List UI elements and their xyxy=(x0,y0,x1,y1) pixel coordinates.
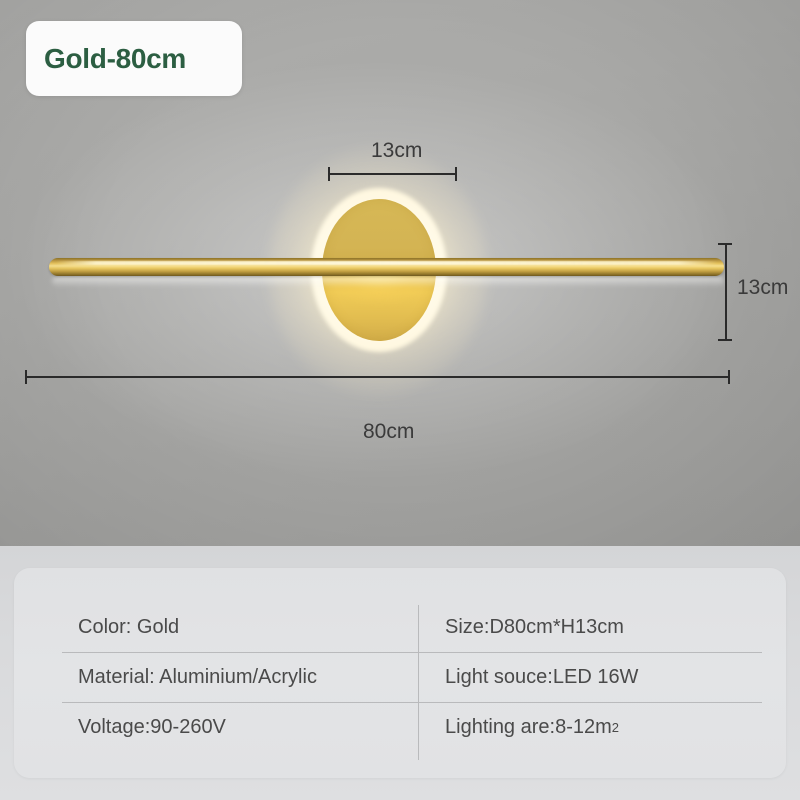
spec-lighting-area-superscript: 2 xyxy=(612,720,619,735)
spec-lighting-area-unit: m xyxy=(595,716,612,739)
dimension-line-disc xyxy=(328,173,457,175)
spec-voltage: Voltage:90-260V xyxy=(62,716,422,739)
product-detail-image: 13cm 80cm 13cm Gold-80cm Color: Gold Siz… xyxy=(0,0,800,800)
dimension-tick-width-left xyxy=(25,370,27,384)
dimension-tick-height-bottom xyxy=(718,339,732,341)
dimension-tick-disc-left xyxy=(328,167,330,181)
dimension-tick-width-right xyxy=(728,370,730,384)
spec-material: Material: Aluminium/Acrylic xyxy=(62,666,422,689)
dimension-tick-disc-right xyxy=(455,167,457,181)
dimension-label-disc: 13cm xyxy=(371,139,422,163)
specs-table: Color: Gold Size:D80cm*H13cm Material: A… xyxy=(62,603,762,760)
variant-badge-label: Gold-80cm xyxy=(44,43,186,75)
spec-lighting-area-text: Lighting are:8-12 xyxy=(445,716,595,739)
table-row: Color: Gold Size:D80cm*H13cm xyxy=(62,603,762,652)
specs-vertical-divider xyxy=(418,605,419,760)
dimension-label-height: 13cm xyxy=(737,276,788,300)
spec-lighting-area: Lighting are:8-12m2 xyxy=(422,716,762,739)
variant-badge: Gold-80cm xyxy=(26,21,242,96)
dimension-label-width: 80cm xyxy=(363,420,414,444)
table-row: Voltage:90-260V Lighting are:8-12m2 xyxy=(62,702,762,752)
lamp-bar-shadow xyxy=(52,276,724,287)
table-row: Material: Aluminium/Acrylic Light souce:… xyxy=(62,652,762,702)
spec-light-source: Light souce:LED 16W xyxy=(422,666,762,689)
spec-color: Color: Gold xyxy=(62,616,422,639)
dimension-tick-height-top xyxy=(718,243,732,245)
dimension-line-width xyxy=(25,376,730,378)
spec-size: Size:D80cm*H13cm xyxy=(422,616,762,639)
lamp-bar-highlight xyxy=(56,261,718,265)
dimension-line-height xyxy=(725,243,727,341)
